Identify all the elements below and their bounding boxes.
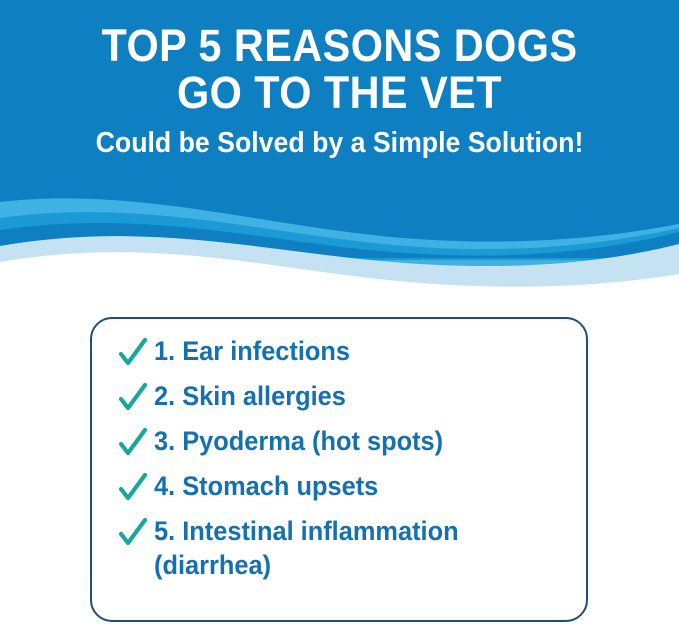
infographic-poster: TOP 5 REASONS DOGS GO TO THE VET Could b… — [0, 0, 679, 629]
list-item: 2. Skin allergies — [118, 379, 572, 415]
page-subtitle: Could be Solved by a Simple Solution! — [27, 127, 652, 159]
reasons-list: 1. Ear infections 2. Skin allergies 3. P… — [118, 334, 572, 582]
list-item: 4. Stomach upsets — [118, 469, 572, 505]
page-title-line-1: TOP 5 REASONS DOGS — [27, 22, 652, 69]
check-icon — [118, 381, 148, 415]
list-item-label: 1. Ear infections — [154, 334, 350, 368]
check-icon — [118, 336, 148, 370]
list-item-label: 5. Intestinal inflammation (diarrhea) — [154, 514, 459, 582]
check-icon — [118, 426, 148, 460]
reasons-card: 1. Ear infections 2. Skin allergies 3. P… — [90, 317, 588, 622]
list-item-label: 4. Stomach upsets — [154, 469, 378, 503]
check-icon — [118, 516, 148, 550]
page-title-line-2: GO TO THE VET — [27, 69, 652, 116]
list-item: 1. Ear infections — [118, 334, 572, 370]
wave-divider — [0, 188, 679, 296]
list-item: 5. Intestinal inflammation (diarrhea) — [118, 514, 572, 582]
check-icon — [118, 471, 148, 505]
list-item-label: 3. Pyoderma (hot spots) — [154, 424, 443, 458]
list-item: 3. Pyoderma (hot spots) — [118, 424, 572, 460]
list-item-label: 2. Skin allergies — [154, 379, 346, 413]
header-text-block: TOP 5 REASONS DOGS GO TO THE VET Could b… — [0, 0, 679, 159]
